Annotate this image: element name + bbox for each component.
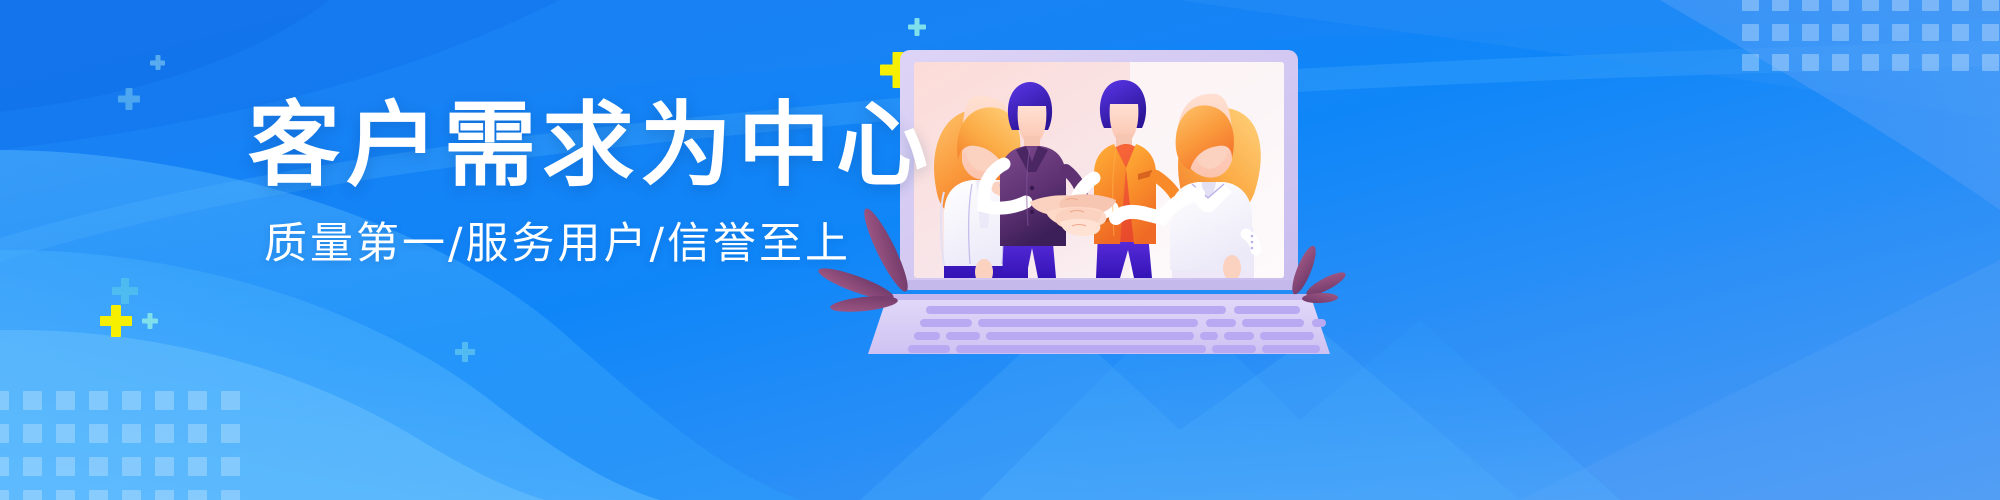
copy-block: 客户需求为中心 质量第一/服务用户/信誉至上 [248, 96, 934, 269]
laptop-team-illustration [880, 36, 1330, 366]
laptop-base [868, 280, 1330, 354]
page-title: 客户需求为中心 [248, 96, 934, 195]
page-subtitle: 质量第一/服务用户/信誉至上 [264, 221, 934, 268]
promo-banner: 客户需求为中心 质量第一/服务用户/信誉至上 [0, 0, 2000, 500]
team-photo [914, 62, 1284, 285]
